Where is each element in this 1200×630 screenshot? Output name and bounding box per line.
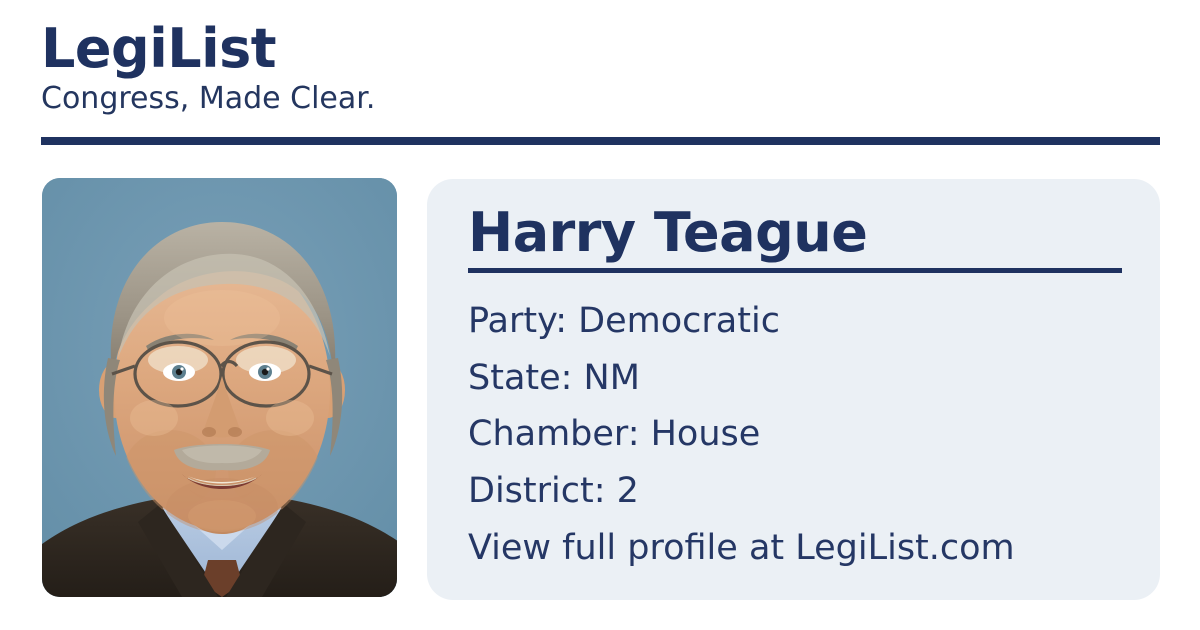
detail-chamber: Chamber: House [468, 406, 1128, 463]
portrait-image [42, 178, 397, 597]
member-name: Harry Teague [468, 205, 867, 262]
detail-party: Party: Democratic [468, 293, 1128, 350]
header-divider [41, 137, 1160, 145]
legilist-member-card: LegiList Congress, Made Clear. [0, 0, 1200, 630]
member-info-card: Harry Teague Party: Democratic State: NM… [427, 179, 1160, 600]
member-name-underline [468, 268, 1122, 273]
member-detail-list: Party: Democratic State: NM Chamber: Hou… [468, 293, 1128, 576]
brand-header: LegiList Congress, Made Clear. [41, 22, 1160, 115]
detail-state: State: NM [468, 350, 1128, 407]
brand-title: LegiList [41, 22, 1160, 76]
member-portrait [42, 178, 397, 597]
detail-district: District: 2 [468, 463, 1128, 520]
brand-tagline: Congress, Made Clear. [41, 82, 1160, 115]
profile-link-text[interactable]: View full profile at LegiList.com [468, 520, 1128, 577]
